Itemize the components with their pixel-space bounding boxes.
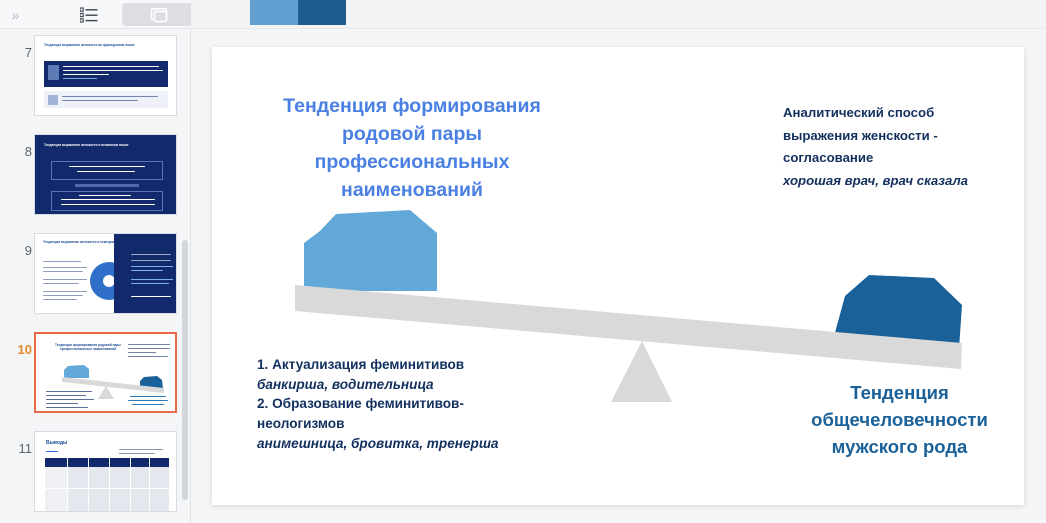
slide-number: 10 — [8, 342, 32, 357]
left-weight-shape — [304, 210, 437, 291]
canvas-topbar — [191, 0, 1046, 29]
fulcrum-triangle — [611, 341, 672, 402]
sidebar-toolbar: » — [0, 0, 208, 29]
feminitive-list-block: 1. Актуализация феминитивов банкирша, во… — [257, 355, 532, 454]
outline-list-icon[interactable] — [80, 7, 98, 23]
thumb-dots — [75, 184, 139, 187]
list-item[interactable]: 9 Тенденции выражения женскости в немецк… — [0, 233, 191, 321]
slide-number: 7 — [8, 45, 32, 60]
palette-swatch-light[interactable] — [250, 0, 298, 25]
presentation-editor: » 7 Тенденции вы — [0, 0, 1046, 523]
list-item-1: 1. Актуализация феминитивов — [257, 355, 532, 375]
thumb-doc-icon — [48, 65, 59, 80]
slides-view-icon — [148, 8, 170, 23]
thumb-title: Тенденции выражения женскости в испанско… — [44, 143, 156, 147]
palette-swatch-dark[interactable] — [298, 0, 346, 25]
bottom-heading: Тенденция общечеловечности мужского рода — [782, 380, 1017, 460]
list-item-2: 2. Образование феминитивов-неологизмов — [257, 394, 532, 433]
slide-thumbnail-8[interactable]: Тенденции выражения женскости в испанско… — [34, 134, 177, 215]
slides-view-button[interactable] — [122, 3, 197, 26]
thumb-subtitle — [43, 255, 87, 259]
list-item[interactable]: 11 Выводы — [0, 431, 191, 519]
thumb-table-header — [45, 458, 169, 467]
list-item[interactable]: 8 Тенденции выражения женскости в испанс… — [0, 134, 191, 222]
thumb-dark-panel — [114, 234, 177, 314]
thumb-title: Выводы — [46, 440, 106, 446]
thumb-seesaw — [36, 334, 177, 413]
list-item-1-examples: банкирша, водительница — [257, 375, 532, 395]
slide-thumbnail-11[interactable]: Выводы — [34, 431, 177, 512]
thumb-title: Тенденции выражения женскости во француз… — [44, 43, 154, 47]
expand-panel-chevron-icon[interactable]: » — [5, 6, 25, 24]
slide-thumbnail-10[interactable]: Тенденция формирования родовой пары проф… — [34, 332, 177, 413]
slide-thumbnail-9[interactable]: Тенденции выражения женскости в немецком… — [34, 233, 177, 314]
slide-canvas: Тенденция формирования родовой пары проф… — [191, 29, 1046, 523]
slide-number: 9 — [8, 243, 32, 258]
list-item-2-examples: анимешница, бровитка, тренерша — [257, 434, 532, 454]
list-item[interactable]: 7 Тенденции выражения женскости во франц… — [0, 35, 191, 123]
slide-number: 11 — [8, 441, 32, 456]
slide-number: 8 — [8, 144, 32, 159]
list-item[interactable]: 10 Тенденция формирования родовой пары п… — [0, 332, 191, 420]
slide-thumbnail-panel[interactable]: 7 Тенденции выражения женскости во франц… — [0, 29, 191, 523]
thumb-box-2 — [51, 191, 163, 211]
thumb-pen-icon — [48, 95, 58, 105]
thumbnail-panel-scrollbar[interactable] — [182, 240, 188, 500]
current-slide[interactable]: Тенденция формирования родовой пары проф… — [212, 47, 1024, 505]
slide-thumbnail-7[interactable]: Тенденции выражения женскости во француз… — [34, 35, 177, 116]
